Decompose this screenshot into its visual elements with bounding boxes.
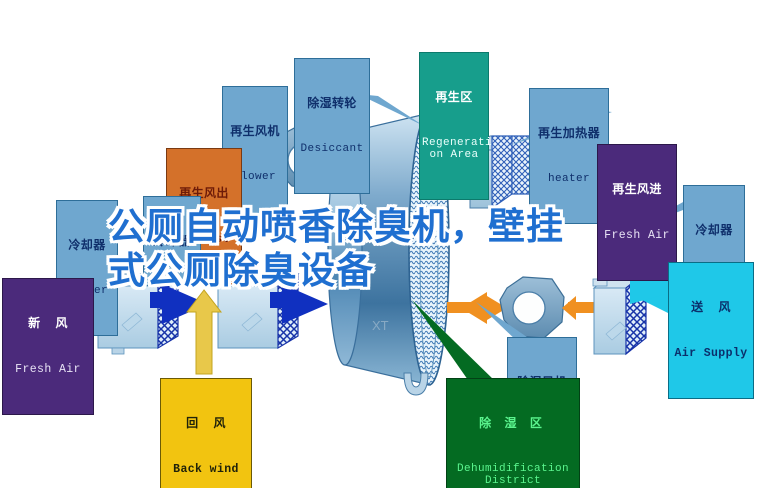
label-regen-area-en: Regenerati on Area — [422, 138, 486, 162]
label-dehum-district-cn: 除 湿 区 — [449, 417, 577, 430]
label-desiccant[interactable]: 除湿转轮 Desiccant — [294, 58, 370, 194]
label-regen-heater-cn: 再生加热器 — [532, 127, 606, 140]
label-desiccant-en: Desiccant — [297, 144, 367, 156]
label-cooler-left-cn: 冷却器 — [59, 239, 115, 252]
label-desiccant-cn: 除湿转轮 — [297, 97, 367, 110]
overlay-title-line2: 式公厕除臭设备 — [108, 249, 668, 293]
label-air-supply-en: Air Supply — [671, 348, 751, 360]
label-air-supply[interactable]: 送 风 Air Supply — [668, 262, 754, 399]
label-regen-area-cn: 再生区 — [422, 91, 486, 104]
overlay-title: 公厕自动喷香除臭机，壁挂 式公厕除臭设备 — [108, 205, 668, 292]
label-back-wind[interactable]: 回 风 Back wind — [160, 378, 252, 488]
label-fresh-air[interactable]: 新 风 Fresh Air — [2, 278, 94, 415]
label-regen-blower-cn: 再生风机 — [225, 125, 285, 138]
label-air-supply-cn: 送 风 — [671, 301, 751, 314]
watermark-text: XT — [372, 318, 389, 333]
label-fresh-air-en: Fresh Air — [5, 364, 91, 376]
label-dehum-district-en: Dehumidification District — [449, 464, 577, 488]
label-fresh-air-in-cn: 再生风进 — [600, 183, 674, 196]
diagram-canvas: XT — [0, 0, 757, 488]
label-regen-heater-en: heater — [532, 174, 606, 186]
label-fresh-air-cn: 新 风 — [5, 317, 91, 330]
label-back-wind-en: Back wind — [163, 464, 249, 476]
label-back-wind-cn: 回 风 — [163, 417, 249, 430]
label-regen-area[interactable]: 再生区 Regenerati on Area — [419, 52, 489, 200]
label-dehum-district[interactable]: 除 湿 区 Dehumidification District — [446, 378, 580, 488]
label-cooler-right-cn: 冷却器 — [686, 224, 742, 237]
overlay-title-line1: 公厕自动喷香除臭机，壁挂 — [108, 205, 668, 249]
